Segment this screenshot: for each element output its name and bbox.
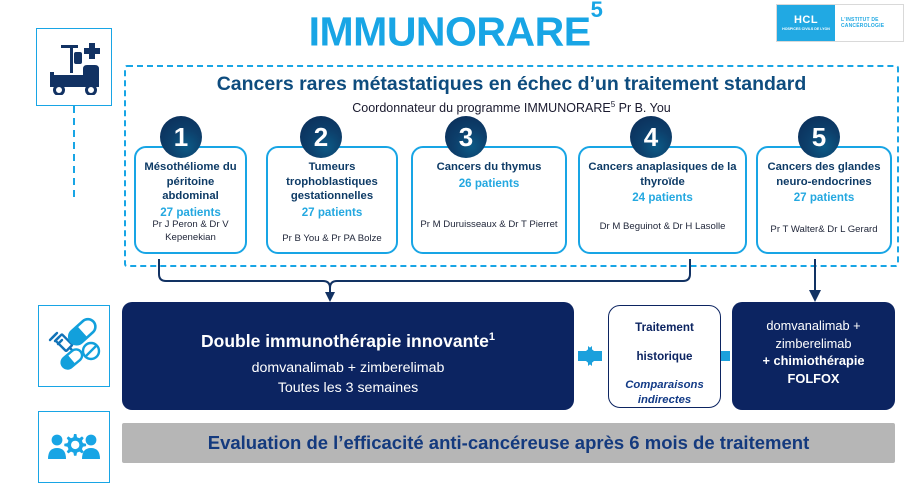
cohort-name-5: Cancers des glandes neuro-endocrines xyxy=(758,160,890,189)
comparator-italic1: Comparaisons xyxy=(609,378,720,393)
cohort-number-badge-3: 3 xyxy=(445,116,487,158)
hospital-bed-icon-tile xyxy=(36,28,112,106)
cohort-patients-2: 27 patients xyxy=(268,205,396,220)
logo-institute-block: L'INSTITUT DE CANCÉROLOGIE xyxy=(835,5,903,41)
treatment-main-schedule: Toutes les 3 semaines xyxy=(122,378,574,398)
cohort-name-3: Cancers du thymus xyxy=(413,160,565,175)
page-title: IMMUNORARE5 xyxy=(0,2,911,54)
cohort-name-1: Mésothéliome du péritoine abdominal xyxy=(136,160,245,204)
hospital-bed-icon xyxy=(45,39,103,95)
banner-heading: Cancers rares métastatiques en échec d’u… xyxy=(124,72,899,96)
cohort-card-1[interactable]: Mésothéliome du péritoine abdominal 27 p… xyxy=(134,146,247,254)
chemo-line2: zimberelimab xyxy=(732,335,895,353)
infographic-root: IMMUNORARE5 HCL HOSPICES CIVILS DE LYON … xyxy=(0,0,911,488)
medication-icon-tile xyxy=(38,305,110,387)
cohort-number-badge-4: 4 xyxy=(630,116,672,158)
logo-brand-text: HCL xyxy=(794,15,818,26)
cohort-card-5[interactable]: Cancers des glandes neuro-endocrines 27 … xyxy=(756,146,892,254)
page-title-text: IMMUNORARE xyxy=(309,9,591,55)
banner-subheading-pre: Coordonnateur du programme IMMUNORARE xyxy=(352,101,610,115)
cohort-name-4: Cancers anaplasiques de la thyroïde xyxy=(580,160,745,189)
cohort-investigators-3: Pr M Duruisseaux & Dr T Pierret xyxy=(413,218,565,231)
treatment-main-title-text: Double immunothérapie innovante xyxy=(201,331,489,351)
treatment-main-box[interactable]: Double immunothérapie innovante1 domvana… xyxy=(122,302,574,410)
comparator-line2: historique xyxy=(609,349,720,364)
treatment-main-title: Double immunothérapie innovante1 xyxy=(122,326,574,352)
logo-institute-line2: CANCÉROLOGIE xyxy=(841,23,884,30)
treatment-chemo-box[interactable]: domvanalimab + zimberelimab + chimiothér… xyxy=(732,302,895,410)
evaluation-text: Evaluation de l’efficacité anti-cancéreu… xyxy=(208,432,809,454)
comparator-italic2: indirectes xyxy=(609,393,720,408)
banner-subheading: Coordonnateur du programme IMMUNORARE5 P… xyxy=(124,97,899,116)
cohort-investigators-5: Pr T Walter& Dr L Gerard xyxy=(758,223,890,236)
chemo-line3: + chimiothérapie xyxy=(732,352,895,370)
cohort-card-2[interactable]: Tumeurs trophoblastiques gestationnelles… xyxy=(266,146,398,254)
cohort-number-badge-2: 2 xyxy=(300,116,342,158)
patients-gear-icon xyxy=(47,432,101,462)
cohort-patients-4: 24 patients xyxy=(580,190,745,205)
treatment-main-title-sup: 1 xyxy=(489,331,495,343)
cohort-card-3[interactable]: Cancers du thymus 26 patients Pr M Durui… xyxy=(411,146,567,254)
treatment-main-drugs: domvanalimab + zimberelimab xyxy=(122,358,574,378)
chemo-line4: FOLFOX xyxy=(732,370,895,388)
cohort-number-badge-1: 1 xyxy=(160,116,202,158)
cohort-card-4[interactable]: Cancers anaplasiques de la thyroïde 24 p… xyxy=(578,146,747,254)
cohort-patients-3: 26 patients xyxy=(413,176,565,191)
chemo-line1: domvanalimab + xyxy=(732,317,895,335)
logo-brand-subtext: HOSPICES CIVILS DE LYON xyxy=(782,27,830,31)
cohort-name-2: Tumeurs trophoblastiques gestationnelles xyxy=(268,160,396,204)
comparator-line1: Traitement xyxy=(609,320,720,335)
patients-gear-icon-tile xyxy=(38,411,110,483)
cohort-number-badge-5: 5 xyxy=(798,116,840,158)
cohort-investigators-2: Pr B You & Pr PA Bolze xyxy=(268,232,396,245)
comparator-box[interactable]: Traitement historique Comparaisons indir… xyxy=(608,305,721,408)
banner-subheading-post: Pr B. You xyxy=(615,101,671,115)
cohort-investigators-4: Dr M Beguinot & Dr H Lasolle xyxy=(580,220,745,233)
logo-brand-block: HCL HOSPICES CIVILS DE LYON xyxy=(777,5,835,41)
cohort-investigators-1: Pr J Peron & Dr V Kepenekian xyxy=(136,218,245,244)
medication-icon xyxy=(46,317,102,375)
evaluation-bar[interactable]: Evaluation de l’efficacité anti-cancéreu… xyxy=(122,423,895,463)
arrow-main-to-comparator xyxy=(578,346,602,366)
hcl-logo: HCL HOSPICES CIVILS DE LYON L'INSTITUT D… xyxy=(776,4,904,42)
cohort-patients-5: 27 patients xyxy=(758,190,890,205)
page-title-superscript: 5 xyxy=(591,0,603,22)
